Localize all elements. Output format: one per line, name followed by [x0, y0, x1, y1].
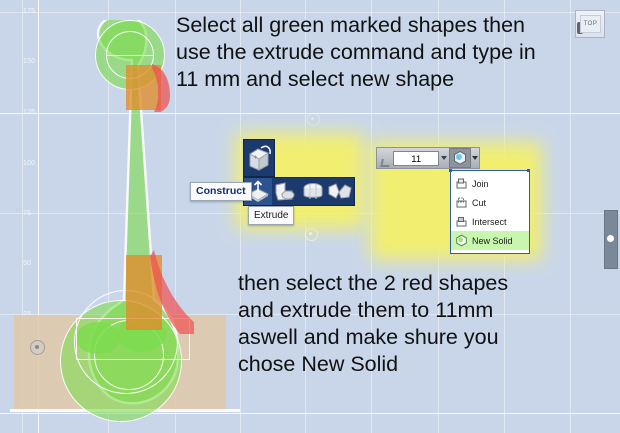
- ruler-mark: 175: [23, 8, 35, 15]
- view-cube[interactable]: TOP: [575, 10, 605, 38]
- sweep-tool-button[interactable]: [299, 178, 327, 205]
- annotation-text-bottom: then select the 2 red shapes and extrude…: [238, 270, 508, 378]
- menu-item-new-solid[interactable]: New Solid: [451, 231, 529, 250]
- cad-application-window: 175 150 125 100 75 50 25: [0, 0, 620, 433]
- join-icon: [455, 177, 468, 190]
- extrude-boss-tool-button[interactable]: [243, 139, 275, 177]
- sketch-point-marker[interactable]: [307, 113, 320, 126]
- menu-item-cut[interactable]: Cut: [451, 193, 529, 212]
- ruler-mark: 125: [23, 109, 35, 116]
- annotation-text-top: Select all green marked shapes then use …: [176, 12, 536, 93]
- revolve-tool-button[interactable]: [272, 178, 300, 205]
- menu-item-label: Join: [472, 179, 489, 189]
- construct-toolbar[interactable]: [243, 177, 355, 206]
- vertical-scrollbar[interactable]: [604, 210, 618, 269]
- extrude-distance-input[interactable]: 11: [393, 151, 439, 166]
- extrude-distance-bar[interactable]: 11: [376, 147, 480, 169]
- extrude-tooltip: Extrude: [248, 206, 294, 225]
- red-sliver-upper[interactable]: [150, 62, 176, 114]
- sketch-point-marker[interactable]: [305, 228, 318, 241]
- grid-line-vertical: [570, 0, 571, 433]
- red-sliver-lower[interactable]: [150, 250, 196, 340]
- menu-item-join[interactable]: Join: [451, 174, 529, 193]
- menu-anchor-dot: [527, 169, 530, 172]
- cut-icon: [455, 196, 468, 209]
- menu-anchor-dot: [449, 169, 452, 172]
- drag-handle-icon[interactable]: [377, 148, 393, 168]
- operation-type-button[interactable]: [449, 148, 471, 168]
- construct-group-label: Construct: [190, 182, 252, 201]
- intersect-icon: [455, 215, 468, 228]
- view-cube-face-label[interactable]: TOP: [580, 15, 601, 33]
- sweep-icon: [300, 179, 326, 204]
- ruler-mark: 100: [23, 160, 35, 167]
- revolve-icon: [272, 179, 298, 204]
- operation-dropdown-menu[interactable]: Join Cut Intersect: [450, 170, 530, 254]
- new-solid-icon: [452, 150, 468, 166]
- extrude-boss-icon: [244, 140, 274, 176]
- loft-tool-button[interactable]: [327, 178, 355, 205]
- origin-marker[interactable]: [30, 340, 45, 355]
- menu-item-label: Cut: [472, 198, 486, 208]
- loft-icon: [327, 179, 353, 204]
- menu-item-label: New Solid: [472, 236, 513, 246]
- ruler-mark: 75: [23, 210, 31, 217]
- scrollbar-thumb[interactable]: [607, 235, 614, 242]
- ruler-mark: 150: [23, 58, 35, 65]
- ruler-mark: 50: [23, 260, 31, 267]
- menu-item-intersect[interactable]: Intersect: [451, 212, 529, 231]
- distance-dropdown-arrow-icon[interactable]: [439, 151, 449, 166]
- operation-dropdown-caret-icon[interactable]: [471, 148, 479, 168]
- menu-item-label: Intersect: [472, 217, 507, 227]
- new-solid-icon: [455, 234, 468, 247]
- upper-centerline: [106, 55, 154, 56]
